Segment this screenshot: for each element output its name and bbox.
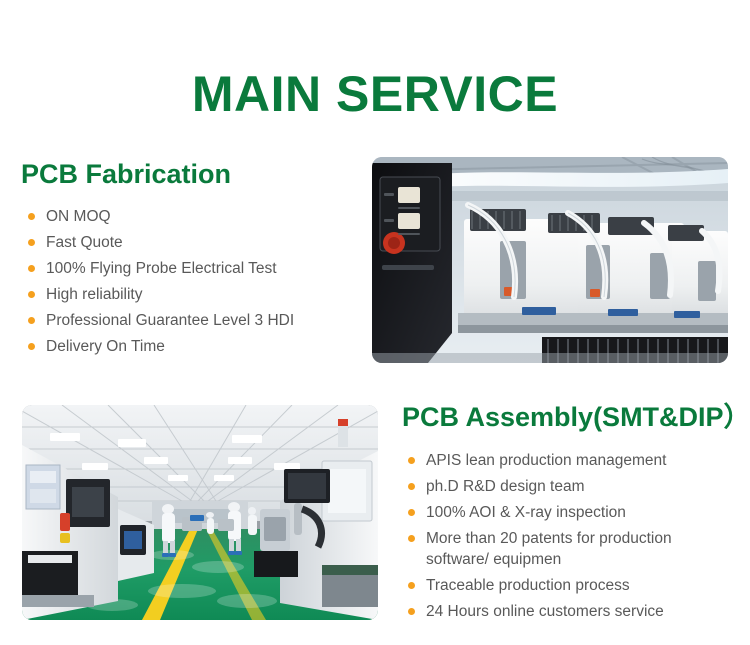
list-item-label-multiline: More than 20 patents for production soft… (426, 528, 744, 570)
bullet-dot-icon (408, 457, 415, 464)
bullet-dot-icon (408, 483, 415, 490)
list-item-label: ON MOQ (46, 206, 364, 227)
list-item: High reliability (24, 284, 364, 305)
list-item-label: 100% AOI & X-ray inspection (426, 502, 744, 523)
bullet-dot-icon (408, 509, 415, 516)
list-item: Traceable production process (404, 575, 744, 596)
list-item-label: ph.D R&D design team (426, 476, 744, 497)
list-item-label: High reliability (46, 284, 364, 305)
feature-list-pcb-fabrication: ON MOQ Fast Quote 100% Flying Probe Elec… (24, 206, 364, 362)
list-item: APIS lean production management (404, 450, 744, 471)
list-item: 100% AOI & X-ray inspection (404, 502, 744, 523)
list-item-label: Professional Guarantee Level 3 HDI (46, 310, 364, 331)
page-title: MAIN SERVICE (0, 66, 750, 122)
bullet-dot-icon (28, 239, 35, 246)
factory-floor-illustration (22, 405, 378, 620)
factory-floor-photo (22, 405, 378, 620)
list-item-label-line-2: software/ equipmen (426, 549, 744, 570)
list-item: Delivery On Time (24, 336, 364, 357)
list-item: More than 20 patents for production soft… (404, 528, 744, 570)
list-item: 100% Flying Probe Electrical Test (24, 258, 364, 279)
list-item-label: APIS lean production management (426, 450, 744, 471)
feature-list-pcb-assembly: APIS lean production management ph.D R&D… (404, 450, 744, 627)
list-item: 24 Hours online customers service (404, 601, 744, 622)
list-item: Professional Guarantee Level 3 HDI (24, 310, 364, 331)
bullet-dot-icon (28, 265, 35, 272)
list-item: ph.D R&D design team (404, 476, 744, 497)
list-item: ON MOQ (24, 206, 364, 227)
section-heading-pcb-fabrication: PCB Fabrication (21, 158, 231, 190)
bullet-dot-icon (408, 582, 415, 589)
list-item-label-line-1: More than 20 patents for production (426, 528, 744, 549)
main-service-page: MAIN SERVICE PCB Fabrication ON MOQ Fast… (0, 0, 750, 645)
bullet-dot-icon (28, 291, 35, 298)
bullet-dot-icon (28, 317, 35, 324)
list-item-label: Fast Quote (46, 232, 364, 253)
bullet-dot-icon (28, 343, 35, 350)
list-item-label: Traceable production process (426, 575, 744, 596)
bullet-dot-icon (28, 213, 35, 220)
bullet-dot-icon (408, 535, 415, 542)
list-item-label: Delivery On Time (46, 336, 364, 357)
smt-production-line-illustration (372, 157, 728, 363)
smt-production-line-photo (372, 157, 728, 363)
bullet-dot-icon (408, 608, 415, 615)
list-item: Fast Quote (24, 232, 364, 253)
list-item-label: 100% Flying Probe Electrical Test (46, 258, 364, 279)
section-heading-pcb-assembly: PCB Assembly(SMT&DIP） (402, 401, 750, 433)
list-item-label: 24 Hours online customers service (426, 601, 744, 622)
